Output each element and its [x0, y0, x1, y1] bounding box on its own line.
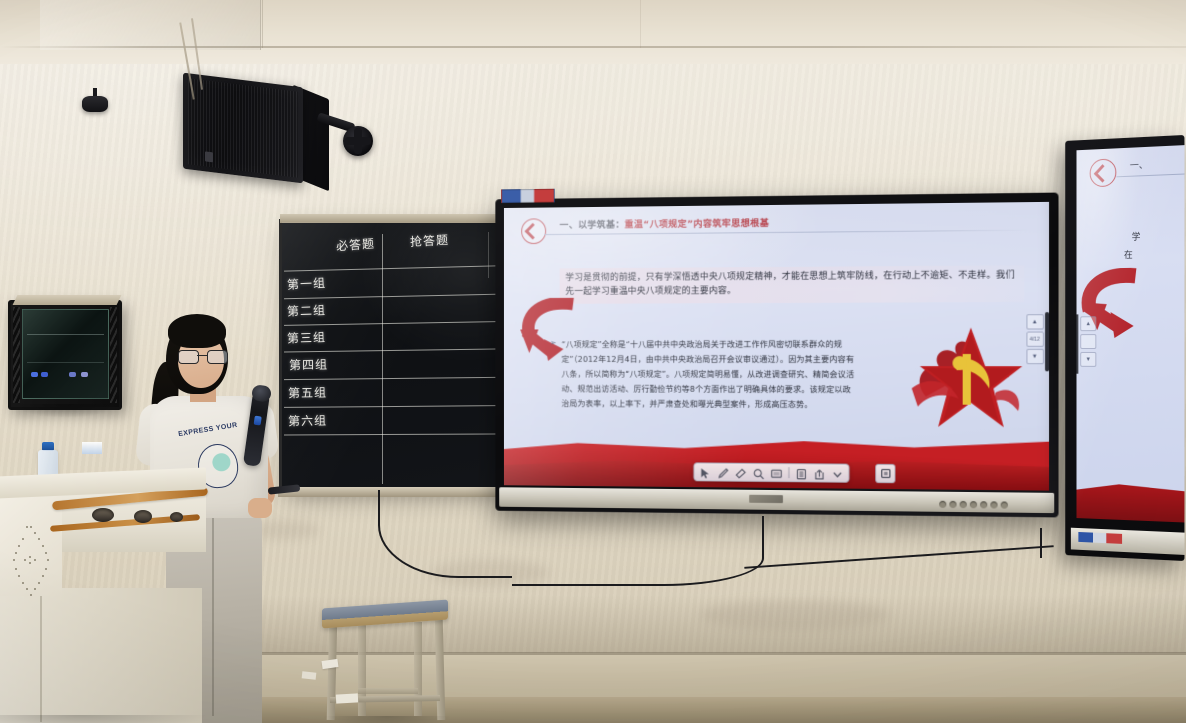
magnifier-icon[interactable]: [753, 466, 765, 478]
stool-seat: [322, 600, 448, 629]
wall-speaker-icon: [183, 74, 343, 186]
speaker-badge: [205, 151, 213, 162]
lectern-perforation-pattern: [12, 526, 50, 596]
ceiling-panel-line: [640, 0, 641, 48]
panel-port: [949, 501, 956, 508]
rack-status-led: [41, 372, 48, 377]
screen-icon[interactable]: [771, 466, 783, 478]
display-cable: [512, 516, 764, 586]
speaker-mount-bracket: [343, 126, 373, 156]
page-indicator: [1080, 334, 1096, 349]
blackboard-glare: [282, 222, 498, 488]
share-export-icon[interactable]: [813, 467, 825, 479]
slide-title-index: 一、: [1130, 157, 1148, 172]
slide-title-underline: [1116, 174, 1184, 178]
equipment-rack[interactable]: [8, 300, 122, 410]
stool-leg: [435, 618, 446, 720]
classroom-photo-scene: 必答题 抢答题 第一组 第二组 第三组 第四组 第五组 第六组 一、以学筑基：重…: [0, 0, 1186, 723]
bullet-marker: ➢: [550, 338, 556, 347]
water-bottle-label: [82, 442, 102, 454]
chevron-left-circle-icon[interactable]: [521, 218, 546, 244]
equipment-rack-vent: [110, 307, 117, 403]
lectern-base-edge: [40, 590, 42, 722]
lectern-cable-grommet: [134, 510, 152, 523]
vertical-scrollbar[interactable]: [1045, 312, 1049, 371]
annotation-toolbar[interactable]: [693, 462, 849, 482]
blackboard: 必答题 抢答题 第一组 第二组 第三组 第四组 第五组 第六组: [282, 222, 498, 488]
glasses-lens-right: [207, 350, 228, 364]
red-star-hammer-sickle-icon: [910, 321, 1025, 445]
stool-rail: [358, 688, 418, 694]
floor-paper: [302, 671, 317, 679]
slide-title: 一、以学筑基：重温“八项规定”内容筑牢思想根基: [560, 212, 1023, 231]
cursor-arrow-icon[interactable]: [699, 466, 711, 478]
lectern-base: [0, 588, 202, 723]
panel-sticker: [501, 189, 555, 203]
display-cable: [1040, 528, 1042, 558]
chevron-up-icon[interactable]: ▲: [1080, 316, 1096, 331]
equipment-rack-top: [13, 295, 122, 305]
presenter-trouser-seam: [212, 516, 214, 716]
ceiling-panel-seam: [40, 0, 261, 50]
chevron-down-icon[interactable]: ▼: [1080, 352, 1096, 367]
stool-leg: [327, 620, 338, 720]
rack-shelf-line: [27, 362, 104, 363]
stool-shadow: [324, 716, 450, 723]
presenter-glasses: [178, 350, 226, 362]
microphone-head: [251, 384, 272, 402]
lectern: [0, 472, 210, 723]
stool-leg: [414, 622, 422, 716]
panel-screen[interactable]: 一、 学 在 ▲ ▼: [1076, 145, 1184, 522]
glasses-lens-left: [178, 350, 199, 364]
equipment-rack-shadow: [14, 404, 118, 418]
panel-screen[interactable]: 一、以学筑基：重温“八项规定”内容筑牢思想根基 学习是贯彻的前提，只有学深悟透中…: [504, 202, 1049, 491]
rack-shelf-line: [27, 334, 104, 335]
presenter-hand-right: [248, 498, 272, 518]
page-navigation-controls[interactable]: ▲ ▼: [1080, 316, 1095, 367]
slide-lede-paragraph: 学习是贯彻的前提，只有学深悟透中央八项规定精神，才能在思想上筑牢防线，在行动上不…: [560, 265, 1025, 303]
panel-port: [970, 501, 977, 508]
microphone-indicator: [254, 416, 262, 426]
panel-port: [990, 501, 997, 508]
vertical-scrollbar[interactable]: [1076, 314, 1078, 373]
floor-paper: [336, 693, 358, 703]
page-navigation-controls[interactable]: ▲ 4/12 ▼: [1026, 314, 1043, 364]
chevron-down-icon[interactable]: ▼: [1026, 349, 1044, 364]
panel-brand-logo: [749, 495, 783, 503]
chevron-down-icon[interactable]: [831, 467, 843, 479]
float-window-icon[interactable]: [875, 464, 895, 483]
pen-icon[interactable]: [717, 466, 729, 478]
slide-bullet-paragraph: “八项规定”全称是“十八届中共中央政治局关于改进工作作风密切联系群众的规定”（2…: [562, 337, 858, 413]
presenter-hair-front: [168, 314, 226, 348]
eraser-icon[interactable]: [735, 466, 747, 478]
panel-port: [939, 501, 946, 508]
toolbar-divider: [788, 467, 789, 478]
slide-title-index: 一、: [560, 220, 579, 231]
lectern-cable-grommet: [92, 508, 114, 522]
page-list-icon[interactable]: [795, 467, 807, 479]
ceiling-panel-line: [262, 0, 263, 48]
slide-text-fragment-2: 在: [1124, 248, 1133, 264]
panel-port-strip: [939, 500, 1019, 510]
lectern-shadow: [0, 715, 206, 723]
rack-status-led: [81, 372, 88, 377]
lectern-cable-grommet: [170, 512, 183, 522]
chevron-left-circle-icon[interactable]: [1090, 158, 1117, 187]
page-indicator: 4/12: [1026, 332, 1044, 347]
equipment-rack-vent: [13, 307, 20, 403]
rack-status-led: [31, 372, 38, 377]
equipment-rack-glass-door[interactable]: [22, 309, 109, 399]
glasses-bridge: [197, 355, 207, 356]
rack-status-led: [69, 372, 76, 377]
panel-sticker: [1078, 532, 1122, 544]
slide-canvas[interactable]: 一、以学筑基：重温“八项规定”内容筑牢思想根基 学习是贯彻的前提，只有学深悟透中…: [504, 202, 1049, 491]
interactive-flat-panel-secondary[interactable]: 一、 学 在 ▲ ▼: [1065, 135, 1184, 561]
interactive-flat-panel-main[interactable]: 一、以学筑基：重温“八项规定”内容筑牢思想根基 学习是贯彻的前提，只有学深悟透中…: [495, 193, 1058, 518]
chevron-up-icon[interactable]: ▲: [1026, 314, 1044, 329]
slide-text-fragment-1: 学: [1132, 230, 1141, 246]
panel-port: [980, 501, 987, 508]
panel-port: [960, 501, 967, 508]
wooden-stool: [318, 604, 454, 722]
slide-red-ribbon-band: [1076, 471, 1184, 523]
slide-title-plain: 以学筑基：: [578, 220, 624, 231]
slide-title-accent: 重温“八项规定”内容筑牢思想根基: [625, 218, 770, 230]
speaker-grille: [188, 78, 298, 178]
ceiling-sensor-icon: [82, 96, 108, 112]
